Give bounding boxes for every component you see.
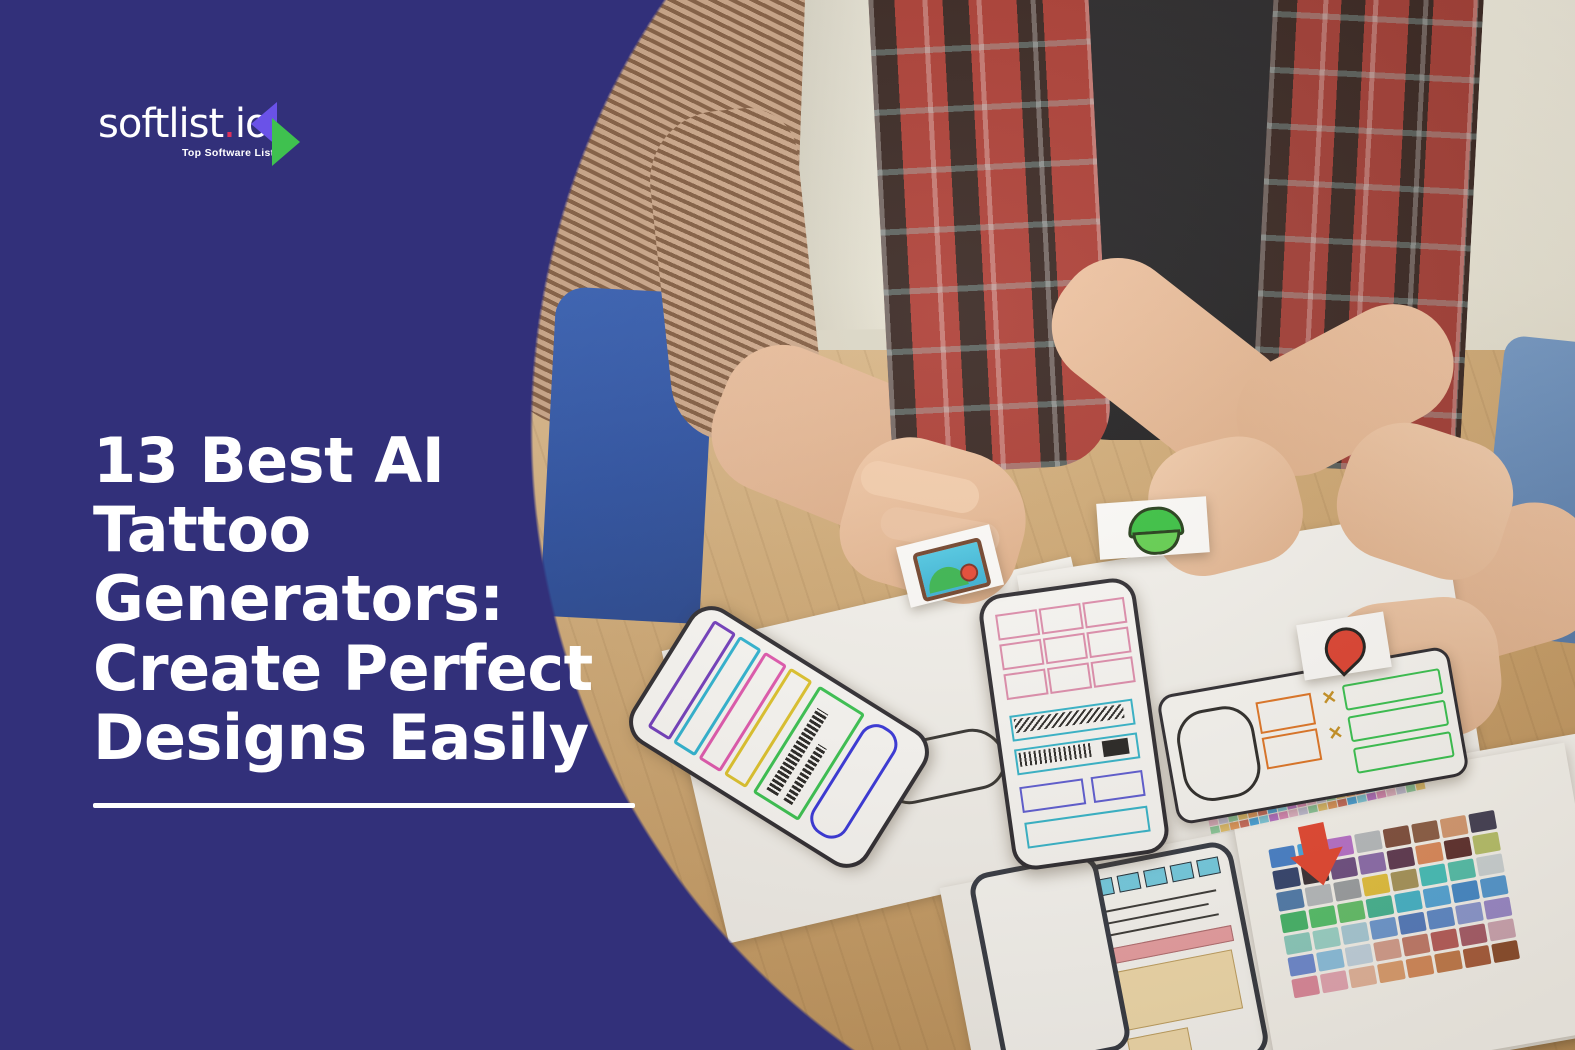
colour-swatch [1362,873,1391,896]
colour-swatch [1369,917,1398,940]
colour-swatch [1390,868,1419,891]
colour-swatch-mini [1229,821,1239,830]
colour-swatch [1411,820,1440,843]
colour-swatch [1484,897,1513,920]
colour-swatch-mini [1347,796,1357,805]
colour-swatch-mini [1386,788,1396,797]
colour-swatch-mini [1288,809,1298,818]
page-title-line: 13 Best AI [93,424,444,497]
colour-swatch-mini [1298,807,1308,816]
colour-swatch [1373,938,1402,961]
title-divider [93,803,635,808]
colour-swatch [1337,900,1366,923]
colour-swatch [1402,933,1431,956]
colour-swatch-mini [1366,792,1376,801]
page-title-line: Tattoo [93,493,311,566]
colour-swatch [1459,923,1488,946]
colour-swatch [1284,932,1313,955]
colour-swatch [1394,890,1423,913]
colour-swatch-mini [1259,815,1269,824]
colour-swatch [1345,943,1374,966]
colour-swatch [1377,960,1406,983]
colour-swatch-mini [1327,800,1337,809]
colour-swatch [1487,918,1516,941]
colour-swatch-mini [1396,786,1406,795]
hero-content: softlist.io Top Software Lists 13 Best A… [0,0,700,1050]
colour-swatch [1365,895,1394,918]
colour-swatch [1405,955,1434,978]
colour-swatch [1415,842,1444,865]
colour-swatch-mini [1337,798,1347,807]
colour-swatch-mini [1308,805,1318,814]
colour-swatch-mini [1376,790,1386,799]
colour-swatch [1468,810,1497,833]
colour-swatch [1312,927,1341,950]
colour-swatch [1308,905,1337,928]
colour-swatch [1276,889,1305,912]
page-title-line: Create Perfect [93,632,593,705]
colour-swatch [1287,954,1316,977]
colour-swatch [1358,852,1387,875]
colour-swatch [1426,907,1455,930]
colour-swatch [1455,902,1484,925]
page-title: 13 Best AITattooGenerators:Create Perfec… [93,426,693,773]
colour-swatch [1472,832,1501,855]
page-title-line: Generators: [93,562,504,635]
colour-swatch [1316,948,1345,971]
colour-swatch [1341,922,1370,945]
colour-swatch [1476,853,1505,876]
colour-swatch [1398,912,1427,935]
colour-swatch-mini [1269,813,1279,822]
colour-swatch-mini [1278,811,1288,820]
colour-swatch-mini [1318,803,1328,812]
colour-swatch [1491,940,1520,963]
colour-swatch-mini [1239,819,1249,828]
hero-banner: ✕ ✕ softlist.io Top Softw [0,0,1575,1050]
colour-swatch [1291,975,1320,998]
colour-swatch [1423,885,1452,908]
colour-swatch [1434,950,1463,973]
logo-dot: . [223,101,235,147]
colour-swatch [1480,875,1509,898]
colour-swatch [1451,880,1480,903]
colour-swatch [1430,928,1459,951]
colour-swatch [1447,858,1476,881]
colour-swatch [1463,945,1492,968]
colour-swatch [1419,863,1448,886]
colour-swatch [1320,970,1349,993]
colour-swatch [1280,910,1309,933]
logo-tagline: Top Software Lists [182,148,281,159]
colour-swatch-mini [1249,817,1259,826]
colour-swatch [1440,815,1469,838]
colour-swatch [1444,837,1473,860]
colour-swatch [1354,830,1383,853]
colour-swatch [1383,825,1412,848]
colour-swatch [1386,847,1415,870]
colour-swatch-mini [1357,794,1367,803]
sticker-green-shape [1096,496,1210,560]
colour-swatch [1348,965,1377,988]
triangle-right-icon [272,118,300,166]
person-red-plaid-shirt-left [867,0,1113,475]
logo-name: softlist [98,101,223,147]
page-title-line: Designs Easily [93,701,589,774]
